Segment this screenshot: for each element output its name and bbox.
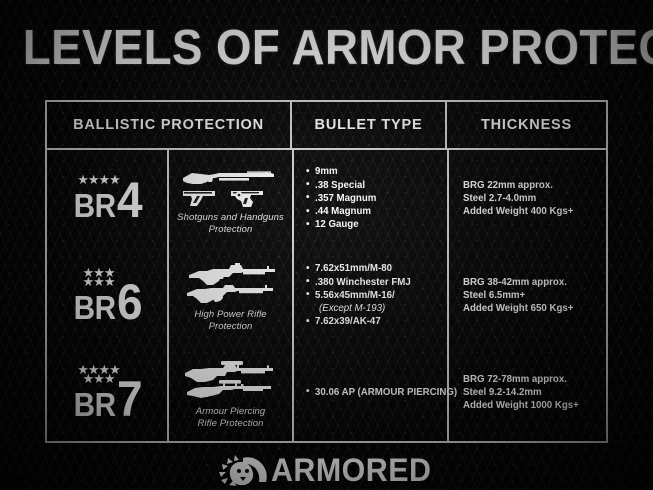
- thickness-line: BRG 72-78mm approx.: [463, 373, 579, 386]
- table-row: ★ ★ ★ ★ BR 4: [47, 150, 606, 247]
- bullet-item: 5.56x45mm/M-16/: [306, 289, 411, 302]
- shotgun-pistol-revolver-icon: [179, 162, 283, 208]
- bullet-item: 7.62x51mm/M-80: [306, 262, 411, 275]
- table-body: ★ ★ ★ ★ BR 4: [47, 150, 606, 441]
- thickness-line: BRG 38-42mm approx.: [463, 276, 573, 289]
- weapon-illustration-br7: Armour Piercing Rifle Protection: [169, 344, 292, 441]
- bullet-item: .38 Special: [306, 179, 376, 192]
- assault-rifle-ak47-icon: [179, 259, 283, 305]
- thickness-line: Added Weight 650 Kgs+: [463, 302, 573, 315]
- bullet-item: .357 Magnum: [306, 192, 376, 205]
- bullet-list-br4: 9mm .38 Special .357 Magnum .44 Magnum 1…: [306, 165, 376, 231]
- thickness-cell-br6: BRG 38-42mm approx. Steel 6.5mm+ Added W…: [449, 247, 608, 344]
- weapon-caption-line2: Rifle Protection: [197, 418, 263, 429]
- weapon-caption-br6: High Power Rifle Protection: [194, 309, 266, 333]
- level-badge-br6: ★ ★ ★ ★ ★ ★ BR 6: [47, 247, 167, 344]
- weapon-illustration-br4: Shotguns and Handguns Protection: [169, 150, 292, 247]
- weapon-caption-br4: Shotguns and Handguns Protection: [177, 212, 284, 236]
- thickness-line: BRG 22mm approx.: [463, 179, 573, 192]
- bullet-item: 7.62x39/AK-47: [306, 315, 411, 328]
- bullet-item: 30.06 AP (ARMOUR PIERCING): [306, 386, 457, 399]
- armor-levels-table: BALLISTIC PROTECTION BULLET TYPE THICKNE…: [45, 100, 608, 443]
- bullet-type-cell-br6: 7.62x51mm/M-80 .380 Winchester FMJ 5.56x…: [294, 247, 447, 344]
- thickness-line: Steel 9.2-14.2mm: [463, 386, 579, 399]
- thickness-line: Steel 6.5mm+: [463, 289, 573, 302]
- thickness-cell-br4: BRG 22mm approx. Steel 2.7-4.0mm Added W…: [449, 150, 608, 247]
- weapon-caption-line1: High Power Rifle: [194, 309, 266, 320]
- thickness-list-br4: BRG 22mm approx. Steel 2.7-4.0mm Added W…: [463, 179, 573, 219]
- weapon-illustration-br6: High Power Rifle Protection: [169, 247, 292, 344]
- bullet-type-cell-br7: 30.06 AP (ARMOUR PIERCING): [294, 344, 447, 441]
- level-number: 4: [117, 180, 143, 220]
- thickness-line: Added Weight 400 Kgs+: [463, 205, 573, 218]
- weapon-caption-line1: Armour Piercing: [196, 406, 266, 417]
- level-prefix: BR: [74, 291, 116, 324]
- weapon-caption-br7: Armour Piercing Rifle Protection: [196, 406, 266, 430]
- bullet-type-cell-br4: 9mm .38 Special .357 Magnum .44 Magnum 1…: [294, 150, 447, 247]
- sniper-rifle-icon: [179, 356, 283, 402]
- weapon-caption-line2: Protection: [209, 321, 253, 332]
- level-label-br7: BR 7: [69, 379, 144, 421]
- level-label-br6: BR 6: [69, 282, 144, 324]
- bullet-list-br7: 30.06 AP (ARMOUR PIERCING): [306, 386, 457, 399]
- header-bullet-type: BULLET TYPE: [292, 102, 447, 148]
- thickness-list-br6: BRG 38-42mm approx. Steel 6.5mm+ Added W…: [463, 276, 573, 316]
- bullet-item: .44 Magnum: [306, 205, 376, 218]
- level-prefix: BR: [74, 189, 116, 222]
- level-prefix: BR: [74, 388, 116, 421]
- header-thickness: THICKNESS: [447, 102, 606, 148]
- table-row: ★ ★ ★ ★ ★ ★ ★ BR: [47, 344, 606, 441]
- table-row: ★ ★ ★ ★ ★ ★ BR 6: [47, 247, 606, 344]
- page-title: LEVELS OF ARMOR PROTECTION: [23, 21, 630, 75]
- level-number: 6: [117, 282, 143, 322]
- thickness-list-br7: BRG 72-78mm approx. Steel 9.2-14.2mm Add…: [463, 373, 579, 413]
- lion-head-icon: [213, 452, 269, 488]
- brand-footer: ARMORED: [0, 452, 653, 488]
- bullet-item: .380 Winchester FMJ: [306, 276, 411, 289]
- level-badge-br4: ★ ★ ★ ★ BR 4: [47, 150, 167, 247]
- level-label-br4: BR 4: [69, 180, 144, 222]
- level-number: 7: [117, 379, 143, 419]
- bullet-list-br6: 7.62x51mm/M-80 .380 Winchester FMJ 5.56x…: [306, 262, 411, 328]
- weapon-caption-line2: Protection: [209, 224, 253, 235]
- bullet-item: 9mm: [306, 165, 376, 178]
- level-badge-br7: ★ ★ ★ ★ ★ ★ ★ BR: [47, 344, 167, 441]
- thickness-line: Added Weight 1000 Kgs+: [463, 399, 579, 412]
- infographic-page: LEVELS OF ARMOR PROTECTION BALLISTIC PRO…: [0, 0, 653, 490]
- brand-name: ARMORED: [271, 454, 431, 486]
- header-ballistic-protection: BALLISTIC PROTECTION: [47, 102, 292, 148]
- thickness-line: Steel 2.7-4.0mm: [463, 192, 573, 205]
- bullet-item-sub: (Except M-193): [306, 302, 411, 315]
- weapon-caption-line1: Shotguns and Handguns: [177, 212, 284, 223]
- table-header-row: BALLISTIC PROTECTION BULLET TYPE THICKNE…: [47, 102, 606, 150]
- bullet-item: 12 Gauge: [306, 218, 376, 231]
- thickness-cell-br7: BRG 72-78mm approx. Steel 9.2-14.2mm Add…: [449, 344, 608, 441]
